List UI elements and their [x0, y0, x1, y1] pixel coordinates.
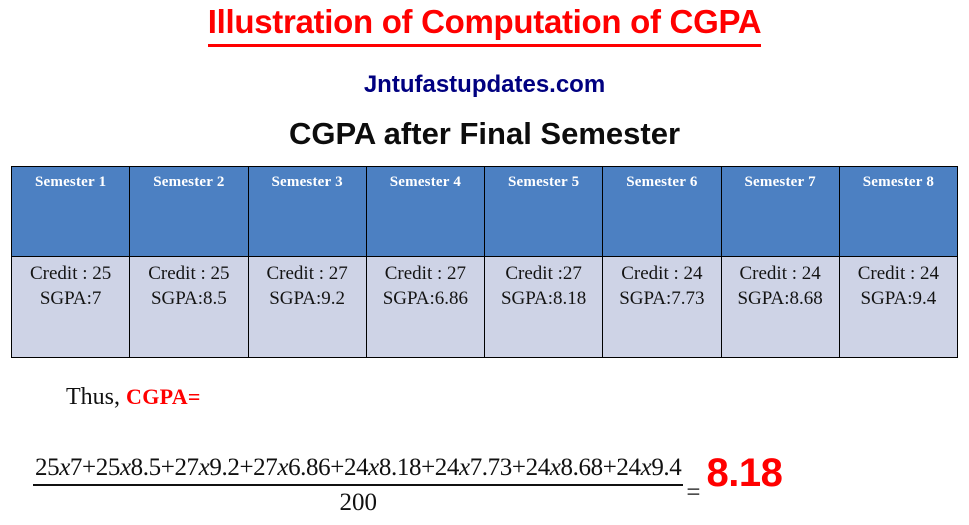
cgpa-fraction: 25x7+25x8.5+27x9.2+27x6.86+24x8.18+24x7.… — [33, 453, 683, 519]
table-row: Credit : 25 SGPA:7 Credit : 25 SGPA:8.5 … — [12, 257, 958, 358]
column-header-semester-4: Semester 4 — [366, 167, 484, 257]
sgpa-value-8: SGPA:9.4 — [840, 286, 957, 311]
credit-value-8: Credit : 24 — [840, 261, 957, 286]
sgpa-value-2: SGPA:8.5 — [130, 286, 247, 311]
column-header-semester-6: Semester 6 — [603, 167, 721, 257]
credit-value-3: Credit : 27 — [249, 261, 366, 286]
cell-semester-8: Credit : 24 SGPA:9.4 — [839, 257, 957, 358]
fraction-numerator: 25x7+25x8.5+27x9.2+27x6.86+24x8.18+24x7.… — [33, 453, 683, 484]
cell-semester-7: Credit : 24 SGPA:8.68 — [721, 257, 839, 358]
sgpa-value-6: SGPA:7.73 — [603, 286, 720, 311]
cell-semester-2: Credit : 25 SGPA:8.5 — [130, 257, 248, 358]
column-header-semester-5: Semester 5 — [485, 167, 603, 257]
cgpa-result-value: 8.18 — [707, 452, 783, 520]
cgpa-equation: 25x7+25x8.5+27x9.2+27x6.86+24x8.18+24x7.… — [33, 452, 782, 520]
cgpa-keyword: CGPA — [126, 384, 188, 409]
sgpa-value-3: SGPA:9.2 — [249, 286, 366, 311]
column-header-semester-1: Semester 1 — [12, 167, 130, 257]
column-header-semester-8: Semester 8 — [839, 167, 957, 257]
cell-semester-4: Credit : 27 SGPA:6.86 — [366, 257, 484, 358]
credit-value-5: Credit :27 — [485, 261, 602, 286]
credit-value-4: Credit : 27 — [367, 261, 484, 286]
section-heading: CGPA after Final Semester — [0, 114, 969, 154]
page-title-text: Illustration of Computation of CGPA — [208, 2, 762, 47]
credit-value-6: Credit : 24 — [603, 261, 720, 286]
conclusion-line: Thus, CGPA= — [66, 382, 201, 412]
conclusion-prefix: Thus, — [66, 384, 126, 410]
page-title: Illustration of Computation of CGPA — [0, 2, 969, 47]
sgpa-value-5: SGPA:8.18 — [485, 286, 602, 311]
column-header-semester-3: Semester 3 — [248, 167, 366, 257]
semester-credit-sgpa-table: Semester 1 Semester 2 Semester 3 Semeste… — [11, 166, 958, 358]
credit-value-2: Credit : 25 — [130, 261, 247, 286]
table-header: Semester 1 Semester 2 Semester 3 Semeste… — [12, 167, 958, 257]
cgpa-equals: = — [188, 384, 201, 409]
equals-sign: = — [683, 464, 706, 508]
sgpa-value-7: SGPA:8.68 — [722, 286, 839, 311]
cell-semester-5: Credit :27 SGPA:8.18 — [485, 257, 603, 358]
cell-semester-3: Credit : 27 SGPA:9.2 — [248, 257, 366, 358]
credit-value-7: Credit : 24 — [722, 261, 839, 286]
sgpa-value-4: SGPA:6.86 — [367, 286, 484, 311]
column-header-semester-7: Semester 7 — [721, 167, 839, 257]
table-body: Credit : 25 SGPA:7 Credit : 25 SGPA:8.5 … — [12, 257, 958, 358]
credit-value-1: Credit : 25 — [12, 261, 129, 286]
site-brand: Jntufastupdates.com — [0, 70, 969, 100]
cell-semester-1: Credit : 25 SGPA:7 — [12, 257, 130, 358]
sgpa-value-1: SGPA:7 — [12, 286, 129, 311]
column-header-semester-2: Semester 2 — [130, 167, 248, 257]
fraction-denominator: 200 — [33, 486, 683, 519]
cell-semester-6: Credit : 24 SGPA:7.73 — [603, 257, 721, 358]
table-header-row: Semester 1 Semester 2 Semester 3 Semeste… — [12, 167, 958, 257]
